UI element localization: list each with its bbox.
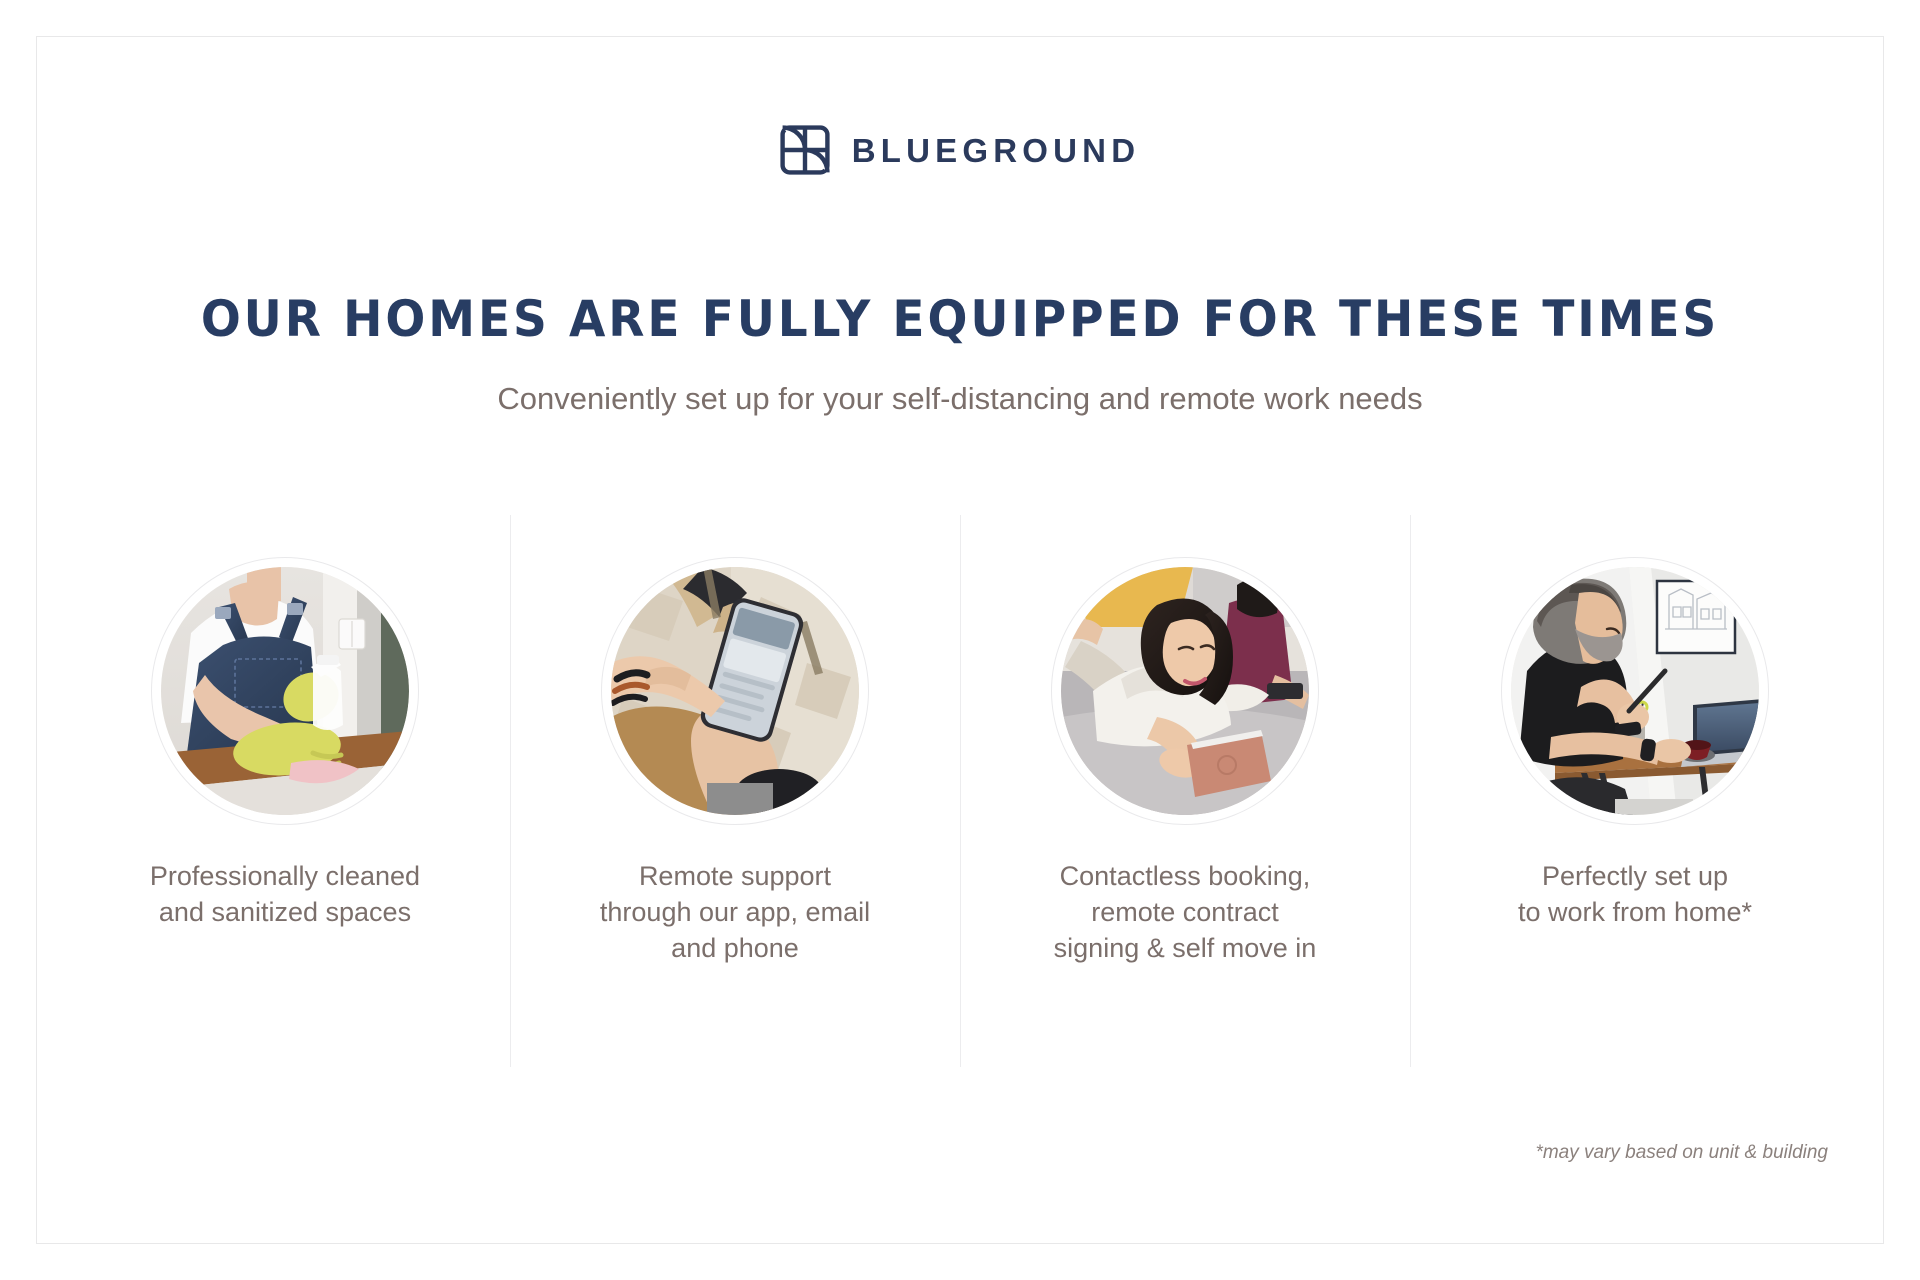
cleaner-illustration-icon xyxy=(161,567,409,815)
brand-logo[interactable]: BLUEGROUND xyxy=(0,125,1920,175)
feature-caption: Professionally cleaned and sanitized spa… xyxy=(150,859,420,931)
promo-page: BLUEGROUND OUR HOMES ARE FULLY EQUIPPED … xyxy=(0,0,1920,1280)
photo-cleaning xyxy=(161,567,409,815)
page-subtitle: Conveniently set up for your self-distan… xyxy=(0,379,1920,419)
page-title: OUR HOMES ARE FULLY EQUIPPED FOR THESE T… xyxy=(58,292,1863,347)
feature-item-work-from-home: Perfectly set up to work from home* xyxy=(1410,515,1860,1067)
feature-columns: Professionally cleaned and sanitized spa… xyxy=(60,515,1860,1067)
photo-ring xyxy=(601,557,869,825)
feature-caption: Perfectly set up to work from home* xyxy=(1518,859,1752,931)
blueground-square-logo-icon xyxy=(780,125,830,175)
feature-item-cleaning: Professionally cleaned and sanitized spa… xyxy=(60,515,510,1067)
hands-with-phone-illustration-icon xyxy=(611,567,859,815)
photo-ring xyxy=(1501,557,1769,825)
woman-on-bed-with-tablet-illustration-icon xyxy=(1061,567,1309,815)
photo-woman-with-tablet xyxy=(1061,567,1309,815)
brand-wordmark: BLUEGROUND xyxy=(852,134,1141,167)
man-working-at-desk-illustration-icon xyxy=(1511,567,1759,815)
feature-item-contactless-booking: Contactless booking, remote contract sig… xyxy=(960,515,1410,1067)
feature-caption: Contactless booking, remote contract sig… xyxy=(1054,859,1317,967)
feature-item-remote-support: Remote support through our app, email an… xyxy=(510,515,960,1067)
photo-man-at-desk xyxy=(1511,567,1759,815)
feature-caption: Remote support through our app, email an… xyxy=(600,859,870,967)
footnote-disclaimer: *may vary based on unit & building xyxy=(1535,1142,1828,1164)
photo-phone-in-hands xyxy=(611,567,859,815)
photo-ring xyxy=(151,557,419,825)
photo-ring xyxy=(1051,557,1319,825)
